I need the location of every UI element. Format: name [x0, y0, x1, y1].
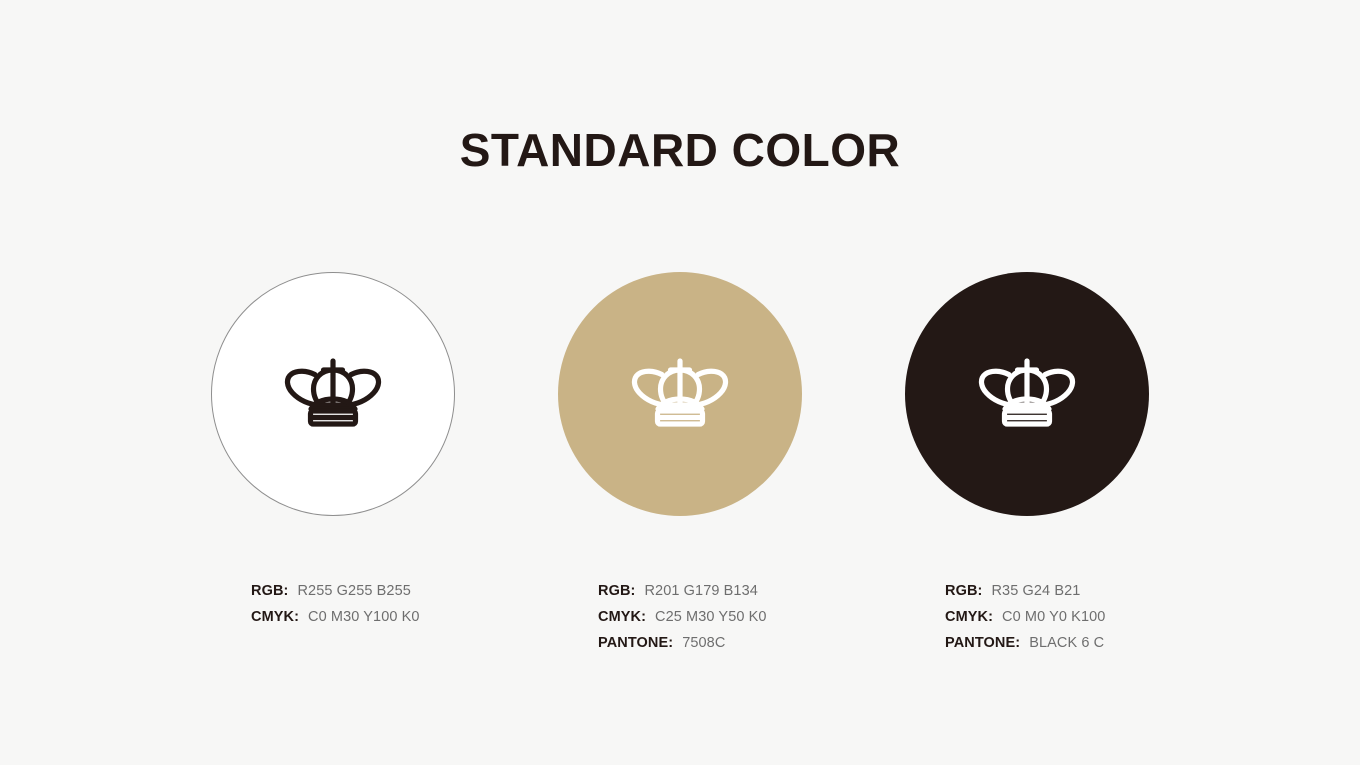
- crown-icon: [975, 357, 1079, 433]
- spec-label: PANTONE:: [598, 635, 673, 651]
- spec-value: R201 G179 B134: [644, 583, 757, 599]
- spec-row: CMYK: C0 M0 Y0 K100: [945, 609, 1197, 635]
- spec-value: 7508C: [682, 635, 725, 651]
- spec-row: PANTONE: BLACK 6 C: [945, 635, 1197, 661]
- crown-icon: [281, 357, 385, 433]
- spec-row: CMYK: C0 M30 Y100 K0: [251, 609, 503, 635]
- swatch-gold-circle-wrap: [510, 272, 850, 522]
- spec-label: CMYK:: [251, 609, 299, 625]
- spec-row: RGB: R201 G179 B134: [598, 583, 850, 609]
- swatch-white-circle-wrap: [163, 272, 503, 522]
- spec-label: PANTONE:: [945, 635, 1020, 651]
- swatch-gold-specs: RGB: R201 G179 B134 CMYK: C25 M30 Y50 K0…: [510, 583, 850, 661]
- spec-value: R255 G255 B255: [297, 583, 410, 599]
- spec-row: RGB: R35 G24 B21: [945, 583, 1197, 609]
- page-title: STANDARD COLOR: [0, 121, 1360, 179]
- swatch-black-circle-wrap: [857, 272, 1197, 522]
- standard-color-page: STANDARD COLOR: [0, 0, 1360, 765]
- swatch-white-specs: RGB: R255 G255 B255 CMYK: C0 M30 Y100 K0: [163, 583, 503, 635]
- spec-row: CMYK: C25 M30 Y50 K0: [598, 609, 850, 635]
- swatch-row: RGB: R255 G255 B255 CMYK: C0 M30 Y100 K0: [0, 272, 1360, 692]
- swatch-black-specs: RGB: R35 G24 B21 CMYK: C0 M0 Y0 K100 PAN…: [857, 583, 1197, 661]
- spec-value: C0 M0 Y0 K100: [1002, 609, 1105, 625]
- spec-value: R35 G24 B21: [991, 583, 1080, 599]
- spec-value: C25 M30 Y50 K0: [655, 609, 767, 625]
- swatch-white: RGB: R255 G255 B255 CMYK: C0 M30 Y100 K0: [163, 272, 503, 522]
- spec-label: CMYK:: [598, 609, 646, 625]
- spec-row: RGB: R255 G255 B255: [251, 583, 503, 609]
- spec-label: RGB:: [945, 583, 982, 599]
- spec-label: CMYK:: [945, 609, 993, 625]
- swatch-gold: RGB: R201 G179 B134 CMYK: C25 M30 Y50 K0…: [510, 272, 850, 522]
- spec-value: BLACK 6 C: [1029, 635, 1104, 651]
- spec-label: RGB:: [251, 583, 288, 599]
- spec-label: RGB:: [598, 583, 635, 599]
- swatch-black: RGB: R35 G24 B21 CMYK: C0 M0 Y0 K100 PAN…: [857, 272, 1197, 522]
- spec-row: PANTONE: 7508C: [598, 635, 850, 661]
- spec-value: C0 M30 Y100 K0: [308, 609, 420, 625]
- color-circle-black[interactable]: [905, 272, 1149, 516]
- color-circle-white[interactable]: [211, 272, 455, 516]
- color-circle-gold[interactable]: [558, 272, 802, 516]
- crown-icon: [628, 357, 732, 433]
